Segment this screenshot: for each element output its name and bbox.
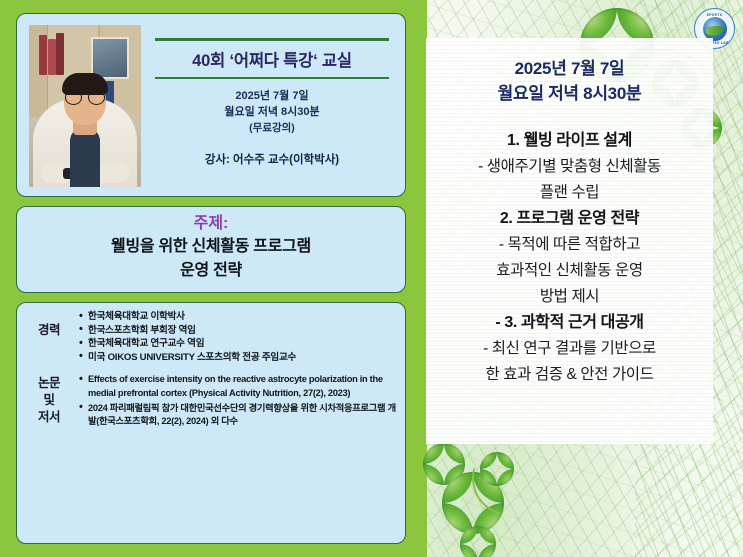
logo-top-text: SPORTS <box>695 13 734 17</box>
publications-label-line-2: 및 <box>25 392 73 409</box>
lecture-title: 40회 ‘어쩌다 특강‘ 교실 <box>153 41 391 77</box>
subject-line-1: 웰빙을 위한 신체활동 프로그램 <box>27 235 395 259</box>
list-item: 한국스포츠학회 부회장 역임 <box>79 324 396 338</box>
rule-bottom <box>155 77 389 80</box>
publications-label: 논문 및 저서 <box>25 373 73 426</box>
subject-line-2: 운영 전략 <box>27 259 395 283</box>
publications-label-line-1: 논문 <box>25 375 73 392</box>
lecture-header-card: 40회 ‘어쩌다 특강‘ 교실 2025년 7월 7일 월요일 저녁 8시30분… <box>16 13 406 197</box>
section-detail: 플랜 수립 <box>432 180 707 206</box>
section-heading: - 3. 과학적 근거 대공개 <box>432 310 707 336</box>
section-detail: - 최신 연구 결과를 기반으로 <box>432 336 707 362</box>
section-heading: 1. 웰빙 라이프 설계 <box>432 128 707 154</box>
lecture-date: 2025년 7월 7일 <box>153 88 391 104</box>
lecture-fee: (무료강의) <box>153 120 391 136</box>
program-content: 2025년 7월 7일 월요일 저녁 8시30분 1. 웰빙 라이프 설계 - … <box>426 38 713 444</box>
list-item: 한국체육대학교 연구교수 역임 <box>79 337 396 351</box>
section-detail: - 생애주기별 맞춤형 신체활동 <box>432 154 707 180</box>
career-label: 경력 <box>25 310 73 339</box>
list-item: 미국 OIKOS UNIVERSITY 스포츠의학 전공 주임교수 <box>79 351 396 365</box>
section-detail: - 목적에 따른 적합하고 <box>432 232 707 258</box>
header-text-block: 40회 ‘어쩌다 특강‘ 교실 2025년 7월 7일 월요일 저녁 8시30분… <box>141 22 395 187</box>
left-panel: 40회 ‘어쩌다 특강‘ 교실 2025년 7월 7일 월요일 저녁 8시30분… <box>0 0 420 557</box>
subject-card: 주제: 웰빙을 위한 신체활동 프로그램 운영 전략 <box>16 206 406 293</box>
lecturer-photo <box>29 25 141 187</box>
subject-label: 주제: <box>27 213 395 235</box>
list-item: Effects of exercise intensity on the rea… <box>79 373 396 400</box>
poster: 40회 ‘어쩌다 특강‘ 교실 2025년 7월 7일 월요일 저녁 8시30분… <box>0 0 743 557</box>
section-detail: 한 효과 검증 & 안전 가이드 <box>432 362 707 388</box>
clover-icon <box>460 526 496 557</box>
right-panel: SPORTS DIABETES LAB 2025년 7월 7일 월요일 저녁 8… <box>420 0 743 557</box>
list-item: 2024 파리패럴림픽 참가 대한민국선수단의 경기력향상을 위한 시차적응프로… <box>79 402 396 429</box>
section-detail: 효과적인 신체활동 운영 <box>432 258 707 284</box>
section-detail: 방법 제시 <box>432 284 707 310</box>
career-list: 한국체육대학교 이학박사 한국스포츠학회 부회장 역임 한국체육대학교 연구교수… <box>73 310 396 364</box>
publications-row: 논문 및 저서 Effects of exercise intensity on… <box>25 373 396 429</box>
publications-label-line-3: 저서 <box>25 409 73 426</box>
list-item: 한국체육대학교 이학박사 <box>79 310 396 324</box>
section-heading: 2. 프로그램 운영 전략 <box>432 206 707 232</box>
credentials-card: 경력 한국체육대학교 이학박사 한국스포츠학회 부회장 역임 한국체육대학교 연… <box>16 302 406 544</box>
career-row: 경력 한국체육대학교 이학박사 한국스포츠학회 부회장 역임 한국체육대학교 연… <box>25 310 396 364</box>
program-date-line-2: 월요일 저녁 8시30분 <box>432 81 707 106</box>
program-date-line-1: 2025년 7월 7일 <box>432 56 707 81</box>
lecture-speaker: 강사: 어수주 교수(이학박사) <box>153 151 391 167</box>
publications-list: Effects of exercise intensity on the rea… <box>73 373 396 429</box>
lecture-time: 월요일 저녁 8시30분 <box>153 104 391 120</box>
